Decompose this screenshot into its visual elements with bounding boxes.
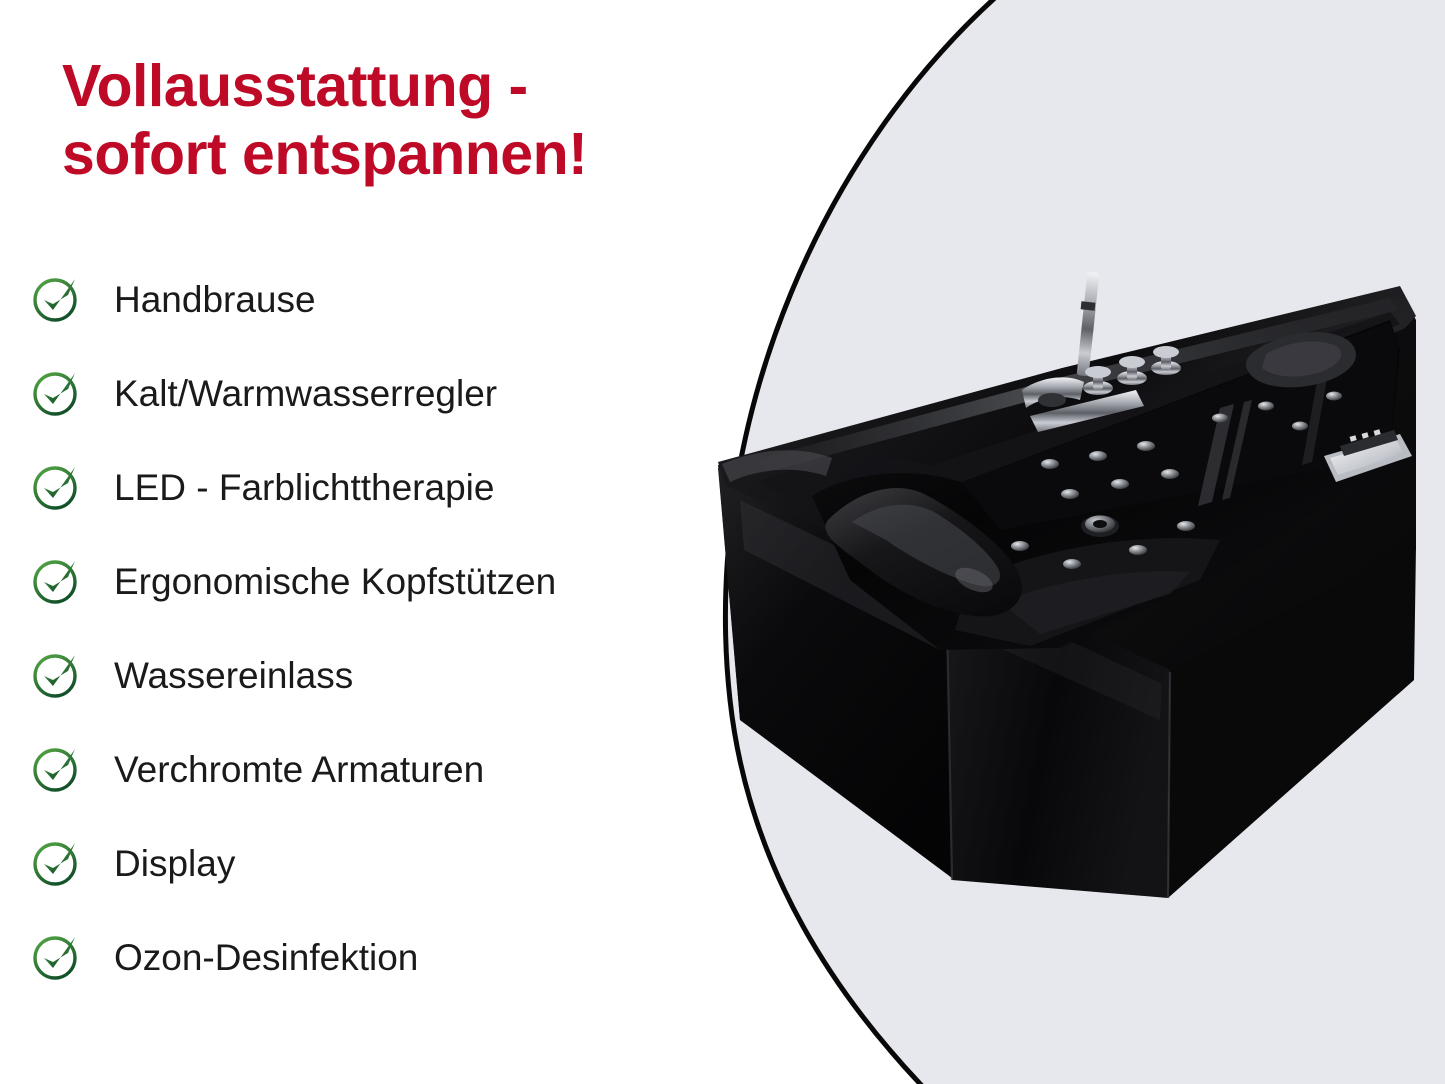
promo-banner: Vollausstattung - sofort entspannen! Han… [0, 0, 1445, 1084]
check-circle-icon [30, 931, 82, 983]
list-item: Ergonomische Kopfstützen [30, 534, 690, 628]
list-item-label: Ergonomische Kopfstützen [114, 563, 556, 600]
page-headline: Vollausstattung - sofort entspannen! [62, 52, 782, 189]
check-circle-icon [30, 367, 82, 419]
check-circle-icon [30, 743, 82, 795]
check-circle-icon [30, 837, 82, 889]
list-item: Handbrause [30, 252, 690, 346]
list-item-label: Kalt/Warmwasserregler [114, 375, 497, 412]
list-item: Display [30, 816, 690, 910]
check-circle-icon [30, 273, 82, 325]
check-circle-icon [30, 555, 82, 607]
list-item-label: Ozon-Desinfektion [114, 939, 418, 976]
product-image-bathtub [700, 250, 1445, 950]
list-item: Ozon-Desinfektion [30, 910, 690, 1004]
list-item-label: Verchromte Armaturen [114, 751, 484, 788]
list-item-label: Wassereinlass [114, 657, 353, 694]
check-circle-icon [30, 649, 82, 701]
list-item-label: LED - Farblichttherapie [114, 469, 494, 506]
feature-list: Handbrause Kalt/Warmwasserregler LED - F… [30, 252, 690, 1004]
drain [1081, 515, 1119, 537]
list-item: LED - Farblichttherapie [30, 440, 690, 534]
list-item: Verchromte Armaturen [30, 722, 690, 816]
list-item: Kalt/Warmwasserregler [30, 346, 690, 440]
list-item-label: Handbrause [114, 281, 316, 318]
list-item-label: Display [114, 845, 235, 882]
check-circle-icon [30, 461, 82, 513]
list-item: Wassereinlass [30, 628, 690, 722]
